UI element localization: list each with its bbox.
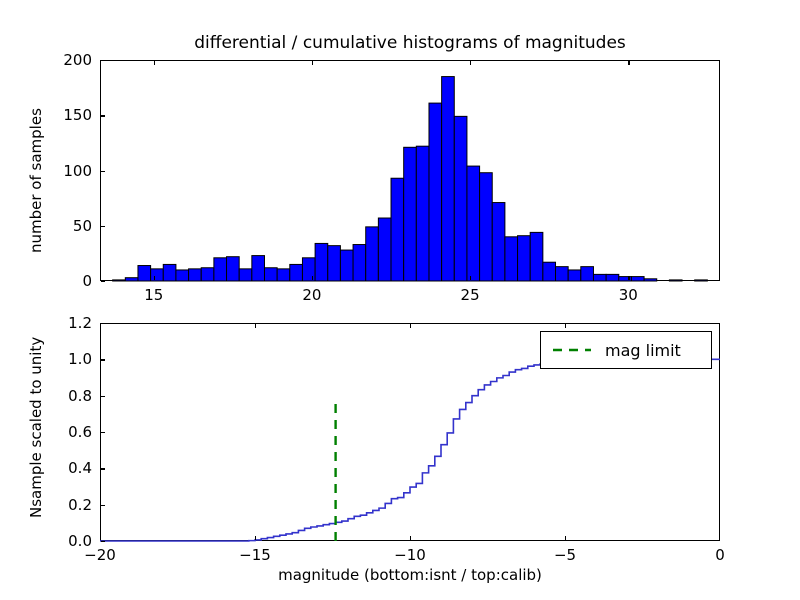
bottom-y-tick <box>101 468 105 469</box>
bottom-y-tick-label: 0.6 <box>68 423 92 441</box>
bottom-y-tick-label: 0.2 <box>68 496 92 514</box>
bottom-y-tick-label: 0.4 <box>68 459 92 477</box>
bottom-y-tick <box>101 505 105 506</box>
figure-x-label: magnitude (bottom:isnt / top:calib) <box>100 566 720 584</box>
bottom-y-tick <box>101 323 105 324</box>
bottom-x-tick <box>565 536 566 540</box>
bottom-x-tick-label: −20 <box>84 546 116 564</box>
bottom-x-tick-label: −5 <box>554 546 576 564</box>
bottom-x-tick-upper <box>410 324 411 328</box>
bottom-y-tick <box>101 396 105 397</box>
bottom-x-tick-label: −15 <box>239 546 271 564</box>
bottom-x-tick <box>100 536 101 540</box>
bottom-y-tick-label: 1.0 <box>68 350 92 368</box>
bottom-y-tick <box>101 541 105 542</box>
bottom-x-tick-upper <box>100 324 101 328</box>
bottom-x-tick <box>719 536 720 540</box>
bottom-y-tick <box>101 359 105 360</box>
matplotlib-figure: differential / cumulative histograms of … <box>0 0 800 600</box>
bottom-x-tick-label: 0 <box>715 546 725 564</box>
bottom-x-tick-upper <box>565 324 566 328</box>
bottom-x-tick-upper <box>255 324 256 328</box>
bottom-x-tick-label: −10 <box>394 546 426 564</box>
cumulative-histogram-plot <box>0 0 800 600</box>
cumulative-curve <box>100 359 720 541</box>
bottom-y-tick-label: 0.8 <box>68 387 92 405</box>
legend-label-mag-limit: mag limit <box>605 341 681 360</box>
bottom-x-tick <box>255 536 256 540</box>
bottom-x-tick <box>410 536 411 540</box>
bottom-x-tick-upper <box>719 324 720 328</box>
bottom-y-tick-label: 1.2 <box>68 314 92 332</box>
mag-limit-dash-icon <box>551 343 593 357</box>
legend: mag limit <box>540 331 712 369</box>
bottom-y-tick <box>101 432 105 433</box>
